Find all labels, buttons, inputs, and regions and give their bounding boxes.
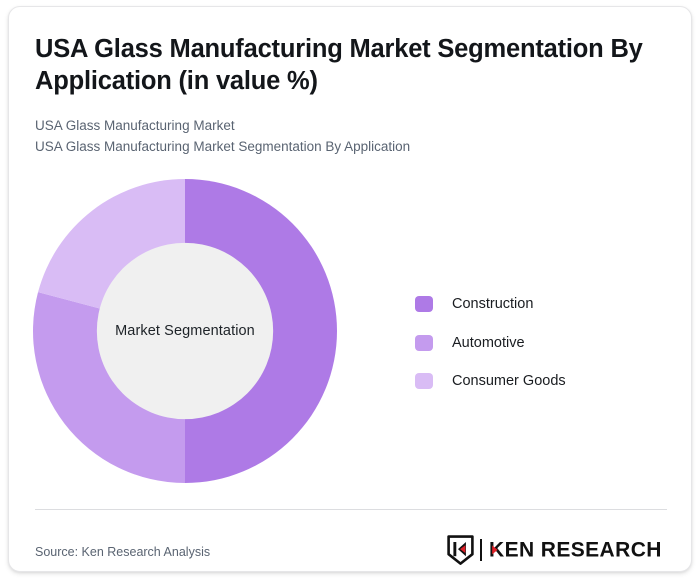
donut-svg — [33, 179, 337, 483]
legend-item-consumer-goods[interactable]: Consumer Goods — [415, 362, 665, 401]
legend-item-construction[interactable]: Construction — [415, 285, 665, 324]
ken-research-wordmark: KEN RESEARCH — [489, 538, 665, 562]
legend-swatch-icon — [415, 373, 433, 389]
legend-item-label: Automotive — [452, 335, 525, 351]
donut-chart: Market Segmentation — [33, 179, 337, 483]
source-note: Source: Ken Research Analysis — [35, 545, 210, 559]
ken-research-shield-icon — [447, 535, 474, 565]
donut-hole — [97, 243, 273, 419]
legend-item-automotive[interactable]: Automotive — [415, 324, 665, 363]
legend-swatch-icon — [415, 296, 433, 312]
chart-card: USA Glass Manufacturing Market Segmentat… — [8, 6, 692, 572]
logo-separator — [480, 539, 482, 561]
chart-area: Market Segmentation ConstructionAutomoti… — [9, 7, 692, 572]
legend-item-label: Consumer Goods — [452, 373, 566, 389]
svg-text:KEN RESEARCH: KEN RESEARCH — [489, 539, 662, 562]
legend-swatch-icon — [415, 335, 433, 351]
chart-legend: ConstructionAutomotiveConsumer Goods — [415, 285, 665, 401]
ken-research-logo: KEN RESEARCH — [447, 534, 665, 566]
legend-item-label: Construction — [452, 296, 533, 312]
footer-divider — [35, 509, 667, 510]
